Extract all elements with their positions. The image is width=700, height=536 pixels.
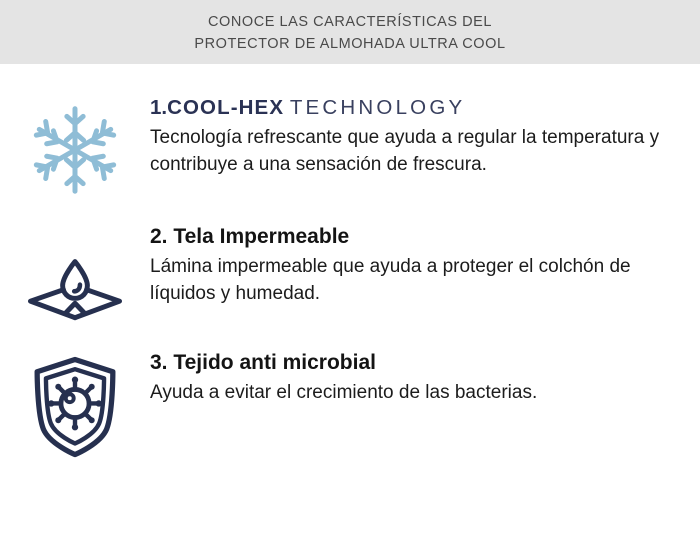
feature-number: 1. — [150, 96, 167, 119]
feature-title-bold: COOL-HEX — [167, 96, 284, 119]
feature-text-cell: 1.COOL-HEX TECHNOLOGY Tecnología refresc… — [150, 94, 700, 178]
feature-item-tela-impermeable: 2. Tela Impermeable Lámina impermeable q… — [0, 198, 700, 321]
feature-item-tejido-anti-microbial: 3. Tejido anti microbial Ayuda a evitar … — [0, 321, 700, 459]
feature-icon-cell — [0, 349, 150, 459]
feature-description: Tecnología refrescante que ayuda a regul… — [150, 124, 684, 178]
feature-title-light: TECHNOLOGY — [290, 96, 466, 119]
feature-list: 1.COOL-HEX TECHNOLOGY Tecnología refresc… — [0, 64, 700, 459]
water-drop-repellent-icon — [25, 223, 125, 321]
feature-description: Ayuda a evitar el crecimiento de las bac… — [150, 379, 684, 406]
header-title-line-2: PROTECTOR DE ALMOHADA ULTRA COOL — [194, 33, 505, 55]
feature-title: 2. Tela Impermeable — [150, 223, 684, 251]
feature-icon-cell — [0, 223, 150, 321]
feature-item-cool-hex: 1.COOL-HEX TECHNOLOGY Tecnología refresc… — [0, 64, 700, 198]
feature-text-cell: 3. Tejido anti microbial Ayuda a evitar … — [150, 349, 700, 406]
feature-title: 3. Tejido anti microbial — [150, 349, 684, 377]
feature-title: 1.COOL-HEX TECHNOLOGY — [150, 94, 684, 122]
header-title-line-1: CONOCE LAS CARACTERÍSTICAS DEL — [208, 11, 492, 33]
feature-text-cell: 2. Tela Impermeable Lámina impermeable q… — [150, 223, 700, 307]
snowflake-icon — [27, 94, 123, 198]
header-banner: CONOCE LAS CARACTERÍSTICAS DEL PROTECTOR… — [0, 0, 700, 64]
feature-icon-cell — [0, 94, 150, 198]
shield-microbe-icon — [31, 349, 119, 459]
feature-description: Lámina impermeable que ayuda a proteger … — [150, 253, 684, 307]
